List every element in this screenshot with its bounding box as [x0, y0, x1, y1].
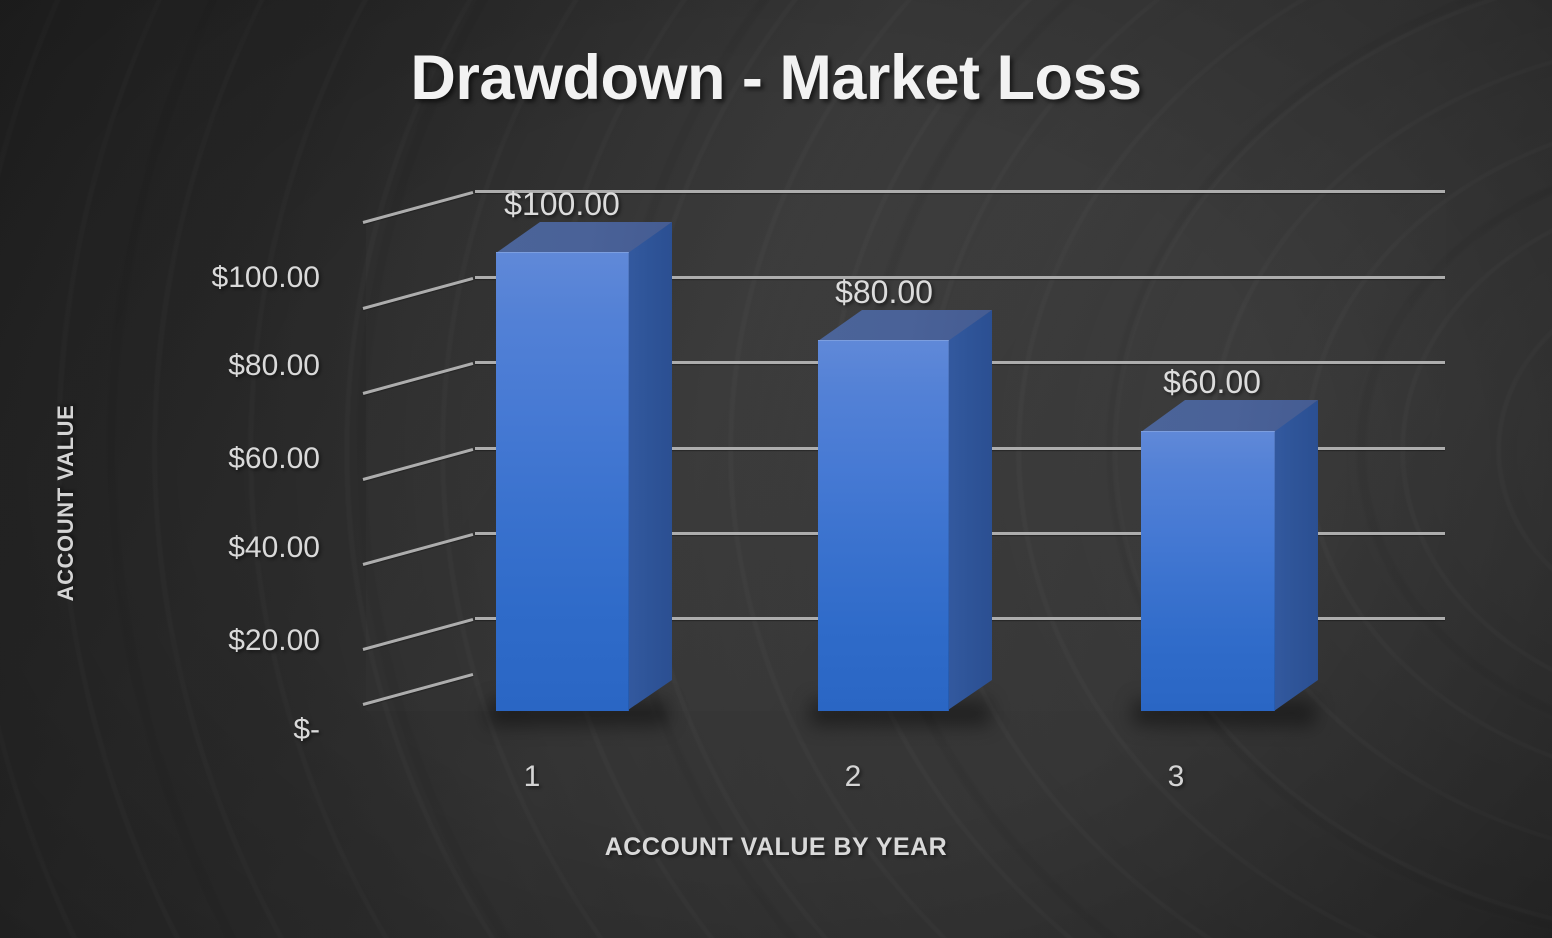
- y-axis-title: ACCOUNT VALUE: [53, 343, 79, 663]
- xtick-label-2: 2: [783, 760, 923, 794]
- bar-value-label-3: $60.00: [1082, 364, 1342, 401]
- bar-top-edge-3: [1141, 431, 1275, 432]
- bar-front-face-3: [1141, 431, 1275, 711]
- xtick-label-3: 3: [1106, 760, 1246, 794]
- plot-area: $100.00 $80.00 $60.00 $40.00 $20.00 $- $…: [0, 0, 1552, 938]
- ytick-label-80: $80.00: [120, 349, 320, 383]
- bar-side-face-2: [948, 310, 992, 740]
- depth-tick-20: [363, 533, 474, 566]
- bar-value-label-2: $80.00: [754, 274, 1014, 311]
- ytick-label-40: $40.00: [120, 531, 320, 565]
- bar-value-label-1: $100.00: [432, 186, 692, 223]
- depth-tick-40: [363, 448, 474, 481]
- depth-tick-60: [363, 362, 474, 395]
- ytick-label-60: $60.00: [120, 442, 320, 476]
- depth-tick-baseline: [363, 673, 474, 706]
- bar-top-edge-1: [496, 252, 629, 253]
- ytick-label-20: $20.00: [120, 624, 320, 658]
- bar-front-face-1: [496, 252, 629, 711]
- bar-top-edge-2: [818, 340, 949, 341]
- xtick-label-1: 1: [462, 760, 602, 794]
- ytick-label-100: $100.00: [120, 261, 320, 295]
- bar-front-face-2: [818, 340, 949, 711]
- x-axis-title: ACCOUNT VALUE BY YEAR: [0, 833, 1552, 862]
- ytick-label-0: $-: [120, 713, 320, 747]
- depth-tick-80: [363, 277, 474, 310]
- bar-side-face-3: [1274, 400, 1318, 740]
- depth-tick-0: [363, 618, 474, 651]
- bar-side-face-1: [628, 222, 672, 740]
